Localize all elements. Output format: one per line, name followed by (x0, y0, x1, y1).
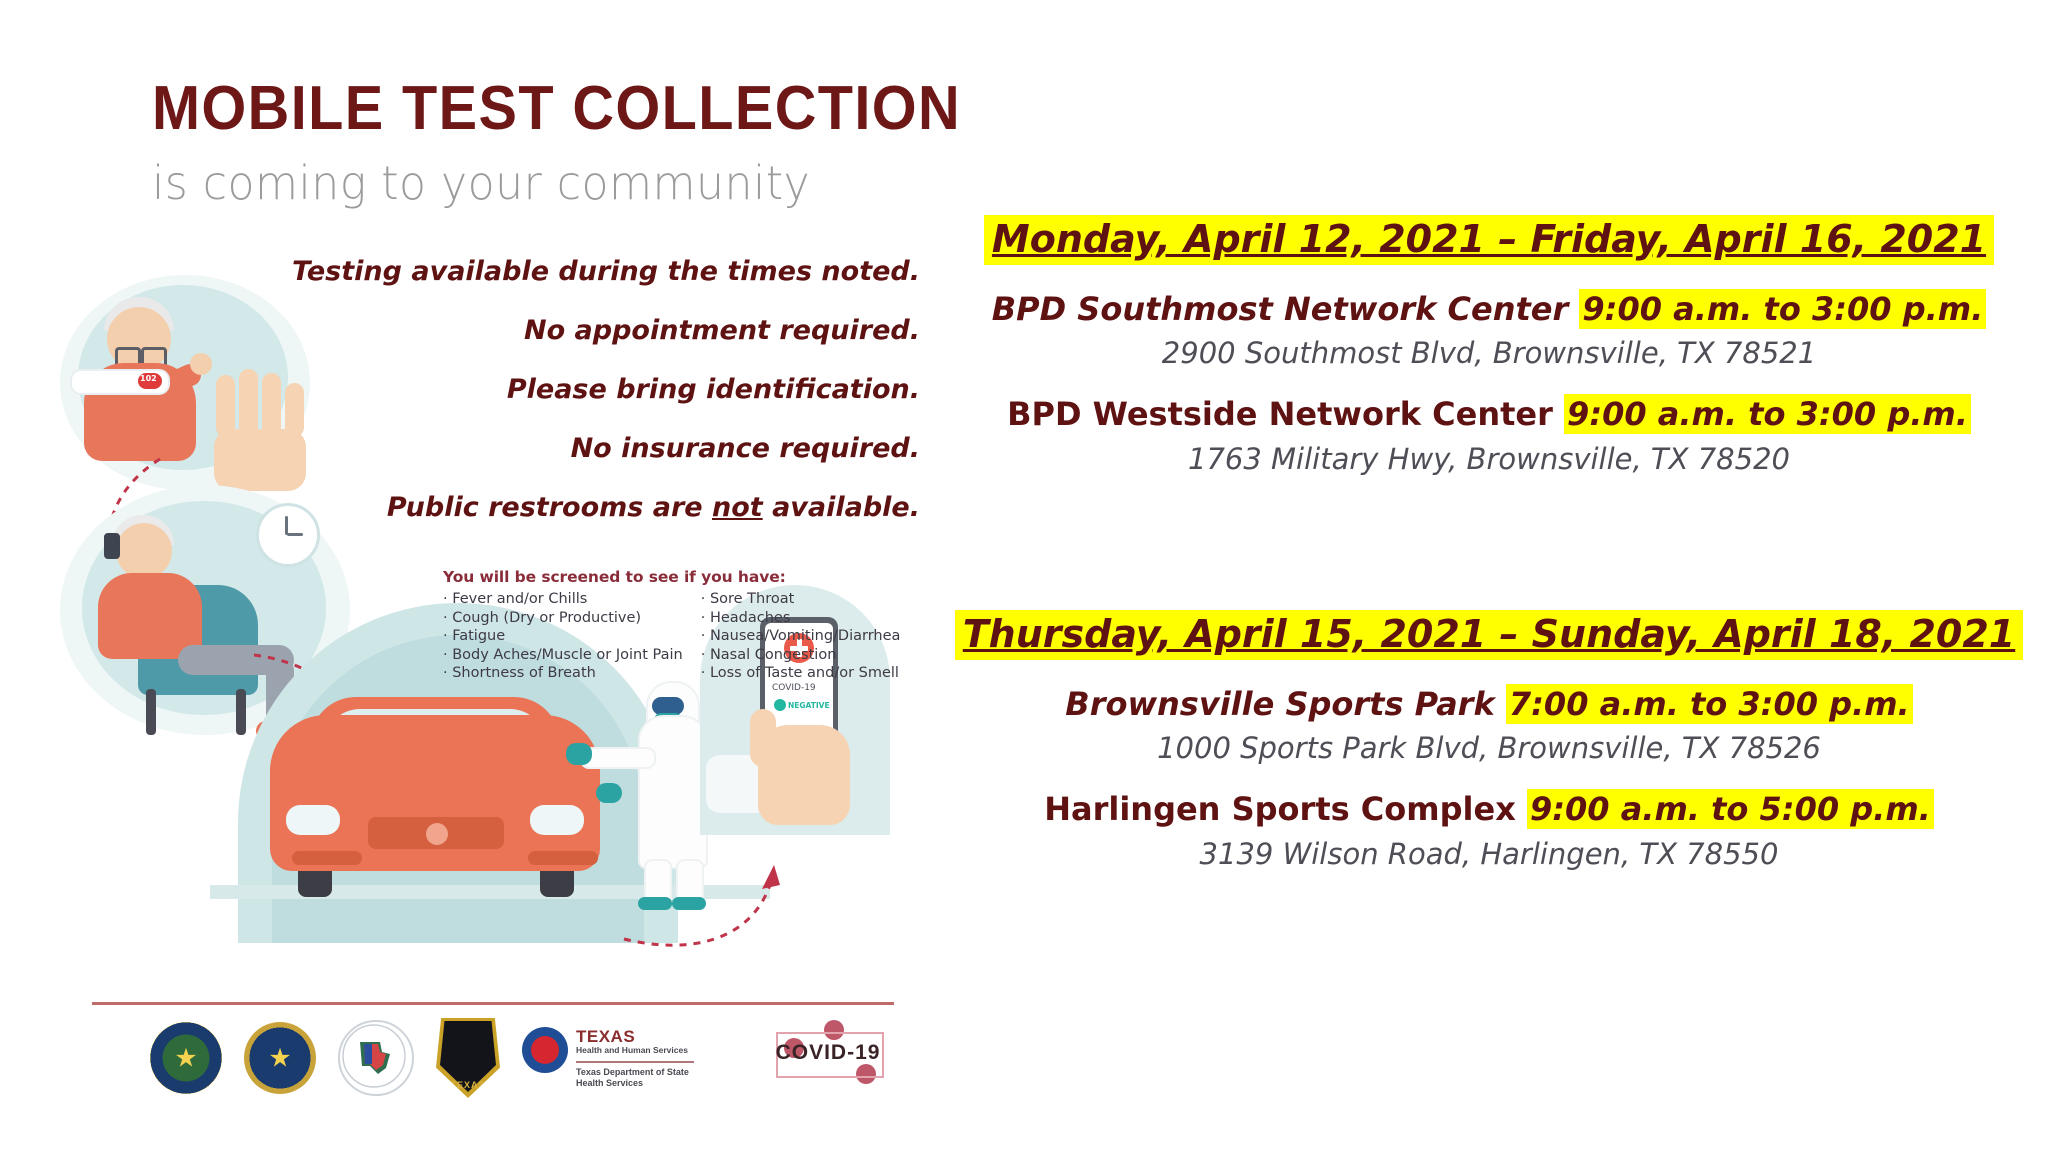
venue-address: 2900 Southmost Blvd, Brownsville, TX 785… (930, 337, 2048, 370)
screening-column-right: Sore Throat Headaches Nausea/Vomiting/Di… (701, 590, 901, 683)
restroom-text-after: available. (763, 492, 920, 523)
chair-leg (146, 689, 156, 735)
schedule-venue-row: Brownsville Sports Park 7:00 a.m. to 3:0… (930, 686, 2048, 722)
hand-holding-smartphone (750, 685, 860, 835)
car-emblem (426, 823, 448, 845)
car-headlight (286, 805, 340, 835)
venue-hours: 9:00 a.m. to 3:00 p.m. (1579, 289, 1986, 329)
venue-name: BPD Southmost Network Center (992, 290, 1569, 328)
symptom-item: Headaches (701, 609, 901, 628)
restroom-emphasis: not (712, 492, 763, 523)
divider (92, 1002, 894, 1005)
technician-glove (566, 743, 592, 765)
schedule-block-1: Monday, April 12, 2021 – Friday, April 1… (930, 215, 2048, 476)
finger (216, 375, 235, 437)
elderly-person-head (107, 307, 171, 371)
texas-badge: TEXAS (436, 1018, 500, 1098)
schedule-date-range: Monday, April 12, 2021 – Friday, April 1… (984, 215, 1994, 265)
screening-heading: You will be screened to see if you have: (443, 568, 873, 586)
thermometer-reading: 102 (140, 374, 157, 383)
schedule-panel: Monday, April 12, 2021 – Friday, April 1… (930, 0, 2048, 1152)
venue-address: 1000 Sports Park Blvd, Brownsville, TX 7… (930, 732, 2048, 765)
venue-address: 1763 Military Hwy, Brownsville, TX 78520 (930, 443, 2048, 476)
symptom-item: Fever and/or Chills (443, 590, 683, 609)
venue-hours: 7:00 a.m. to 3:00 p.m. (1506, 684, 1913, 724)
page-subtitle: is coming to your community (152, 160, 810, 206)
symptom-item: Nasal Congestion (701, 646, 901, 665)
screening-columns: Fever and/or Chills Cough (Dry or Produc… (443, 590, 873, 683)
hhs-text-block: TEXAS Health and Human Services Texas De… (576, 1027, 694, 1090)
restroom-text-before: Public restrooms are (387, 492, 712, 523)
texas-badge-label: TEXAS (436, 1080, 500, 1090)
instruction-item-restrooms: Public restrooms are not available. (250, 494, 920, 521)
texas-division-of-emergency-management-seal (338, 1020, 414, 1096)
instruction-item: No appointment required. (250, 317, 920, 344)
texas-hhs-logo: TEXAS Health and Human Services Texas De… (522, 1027, 694, 1090)
hhs-emblem-icon (522, 1027, 568, 1073)
venue-name: Brownsville Sports Park (1065, 685, 1494, 723)
screening-symptoms-box: You will be screened to see if you have:… (443, 568, 873, 683)
screening-column-left: Fever and/or Chills Cough (Dry or Produc… (443, 590, 683, 683)
venue-hours: 9:00 a.m. to 3:00 p.m. (1564, 394, 1971, 434)
car-headlight (530, 805, 584, 835)
texas-military-department-seal: ★ (244, 1022, 316, 1094)
car-bumper (292, 851, 362, 865)
hhs-department-line2: Health Services (576, 1078, 694, 1089)
venue-address: 3139 Wilson Road, Harlingen, TX 78550 (930, 838, 2048, 871)
symptom-item: Sore Throat (701, 590, 901, 609)
venue-name: BPD Westside Network Center (1007, 395, 1553, 433)
instructions-list: Testing available during the times noted… (250, 258, 920, 553)
venue-hours: 9:00 a.m. to 5:00 p.m. (1527, 789, 1934, 829)
county-of-cameron-brownsville-texas-seal: ★ (150, 1022, 222, 1094)
schedule-date-range: Thursday, April 15, 2021 – Sunday, April… (955, 610, 2024, 660)
covid-19-badge: COVID-19 (768, 1022, 892, 1084)
star-icon: ★ (174, 1043, 197, 1074)
schedule-block-2: Thursday, April 15, 2021 – Sunday, April… (930, 610, 2048, 871)
instruction-item: No insurance required. (250, 435, 920, 462)
instruction-item: Please bring identification. (250, 376, 920, 403)
symptom-item: Cough (Dry or Productive) (443, 609, 683, 628)
flow-arrow-icon (620, 845, 800, 955)
palm (758, 725, 850, 825)
page-title: MOBILE TEST COLLECTION (152, 78, 961, 140)
car-bumper (528, 851, 598, 865)
symptom-item: Shortness of Breath (443, 664, 683, 683)
symptom-item: Fatigue (443, 627, 683, 646)
schedule-venue-row: BPD Westside Network Center 9:00 a.m. to… (930, 396, 2048, 432)
star-icon: ★ (268, 1043, 291, 1074)
symptom-item: Loss of Taste and/or Smell (701, 664, 901, 683)
hhs-wordmark: TEXAS (576, 1027, 694, 1047)
divider (576, 1061, 694, 1063)
hhs-subtitle: Health and Human Services (576, 1046, 694, 1056)
left-panel: MOBILE TEST COLLECTION is coming to your… (0, 0, 930, 1152)
symptom-item: Body Aches/Muscle or Joint Pain (443, 646, 683, 665)
seated-person-head (116, 523, 172, 579)
schedule-venue-row: BPD Southmost Network Center 9:00 a.m. t… (930, 291, 2048, 327)
hhs-department-line1: Texas Department of State (576, 1067, 694, 1078)
texas-outline-icon (340, 1022, 408, 1090)
chair-leg (236, 689, 246, 735)
symptom-item: Nausea/Vomiting/Diarrhea (701, 627, 901, 646)
agency-seals-row: ★ ★ TEXAS TEXAS Health and Human Service… (150, 1012, 850, 1104)
schedule-venue-row: Harlingen Sports Complex 9:00 a.m. to 5:… (930, 791, 2048, 827)
instruction-item: Testing available during the times noted… (250, 258, 920, 285)
venue-name: Harlingen Sports Complex (1044, 790, 1516, 828)
phone-icon (104, 533, 120, 559)
technician-glove (596, 783, 622, 803)
covid-badge-label: COVID-19 (768, 1032, 888, 1074)
poster-canvas: MOBILE TEST COLLECTION is coming to your… (0, 0, 2048, 1152)
